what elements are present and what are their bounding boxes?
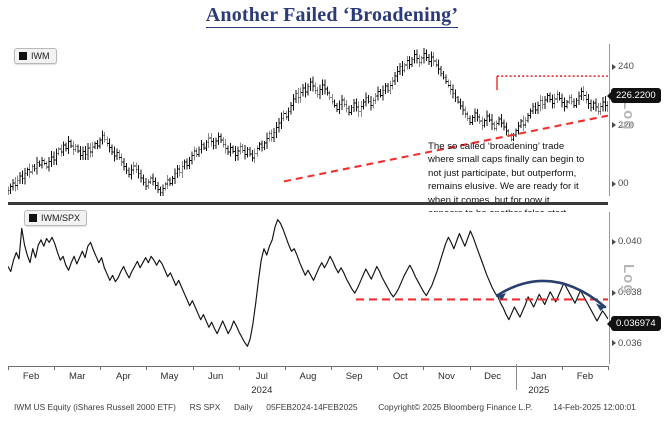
panel-divider [8, 202, 608, 205]
x-axis-month-mar-1: Mar [69, 371, 85, 382]
rs-value-flag: 0.036974 [611, 316, 661, 331]
footer-periodicity: Daily [234, 402, 253, 412]
annotation-line-0: The so called ‘broadening’ trade [428, 140, 608, 153]
x-axis-month-feb-12: Feb [577, 371, 593, 382]
x-axis-tick [285, 366, 286, 370]
legend-swatch-icon [29, 214, 37, 222]
x-axis-month-jun-4: Jun [208, 371, 223, 382]
x-axis-tick [100, 366, 101, 370]
x-axis: FebMarAprMayJunJulAugSepOctNovDecJanFeb2… [8, 366, 608, 400]
x-axis-tick [239, 366, 240, 370]
rs-log-watermark: Log [620, 264, 637, 295]
axis-price-tick-2: 00 [612, 178, 629, 189]
x-axis-tick [331, 366, 332, 370]
annotation-line-2: not just participate, but outperform, [428, 167, 608, 180]
tick-arrow-icon [612, 181, 616, 187]
x-axis-month-dec-10: Dec [484, 371, 501, 382]
page-title: Another Failed ‘Broadening’ [0, 4, 664, 27]
x-axis-tick [54, 366, 55, 370]
x-axis-month-sep-7: Sep [346, 371, 363, 382]
rs-axis-line [609, 212, 610, 364]
tick-arrow-icon [612, 340, 616, 346]
x-axis-month-jan-11: Jan [531, 371, 546, 382]
x-axis-year-separator [516, 364, 517, 390]
price-axis-line [609, 44, 610, 196]
x-axis-tick [193, 366, 194, 370]
footer: IWM US Equity (iShares Russell 2000 ETF)… [14, 402, 654, 412]
price-log-watermark: Log [620, 100, 637, 131]
legend-iwm-label: IWM [31, 51, 50, 61]
x-axis-year-2024: 2024 [251, 385, 272, 396]
x-axis-month-aug-6: Aug [300, 371, 317, 382]
tick-arrow-icon [612, 239, 616, 245]
legend-swatch-icon [19, 52, 27, 60]
footer-timestamp: 14-Feb-2025 12:00:01 [553, 402, 636, 412]
annotation-line-1: where small caps finally can begin to [428, 153, 608, 166]
x-axis-month-nov-9: Nov [438, 371, 455, 382]
x-axis-tick [377, 366, 378, 370]
footer-copyright: Copyright© 2025 Bloomberg Finance L.P. [378, 402, 532, 412]
tick-label: 00 [618, 178, 629, 189]
legend-iwm[interactable]: IWM [14, 48, 57, 64]
axis-rs-tick-2: 0.036 [612, 338, 642, 349]
annotation-line-3: remains elusive. We are ready for it [428, 180, 608, 193]
legend-iwm-spx-label: IWM/SPX [41, 213, 80, 223]
x-axis-rule [8, 366, 608, 367]
axis-rs-tick-0: 0.040 [612, 236, 642, 247]
legend-iwm-spx[interactable]: IWM/SPX [24, 210, 87, 226]
tick-label: 0.040 [618, 236, 642, 247]
rs-panel [8, 212, 608, 364]
x-axis-tick [8, 366, 9, 370]
tick-arrow-icon [612, 290, 616, 296]
x-axis-tick [608, 366, 609, 370]
page-title-text: Another Failed ‘Broadening’ [206, 4, 458, 28]
x-axis-month-oct-8: Oct [393, 371, 408, 382]
x-axis-month-feb-0: Feb [23, 371, 39, 382]
x-axis-tick [562, 366, 563, 370]
price-value-flag: 226.2200 [611, 88, 661, 103]
rs-plot [8, 212, 608, 364]
x-axis-tick [470, 366, 471, 370]
axis-price-tick-0: 240 [612, 61, 634, 72]
tick-arrow-icon [612, 122, 616, 128]
tick-arrow-icon [612, 64, 616, 70]
annotation-text: The so called ‘broadening’ tradewhere sm… [428, 140, 608, 220]
x-axis-month-may-3: May [161, 371, 179, 382]
chart-root: Another Failed ‘Broadening’ IWM 24022000… [0, 0, 664, 432]
footer-study: RS SPX [190, 402, 221, 412]
footer-security: IWM US Equity (iShares Russell 2000 ETF) [14, 402, 176, 412]
x-axis-month-apr-2: Apr [116, 371, 131, 382]
x-axis-tick [146, 366, 147, 370]
x-axis-month-jul-5: Jul [256, 371, 268, 382]
x-axis-year-2025: 2025 [528, 385, 549, 396]
x-axis-tick [423, 366, 424, 370]
tick-label: 0.036 [618, 338, 642, 349]
annotation-line-4: when it comes, but for now it [428, 194, 608, 207]
tick-label: 240 [618, 61, 634, 72]
footer-range: 05FEB2024-14FEB2025 [266, 402, 357, 412]
